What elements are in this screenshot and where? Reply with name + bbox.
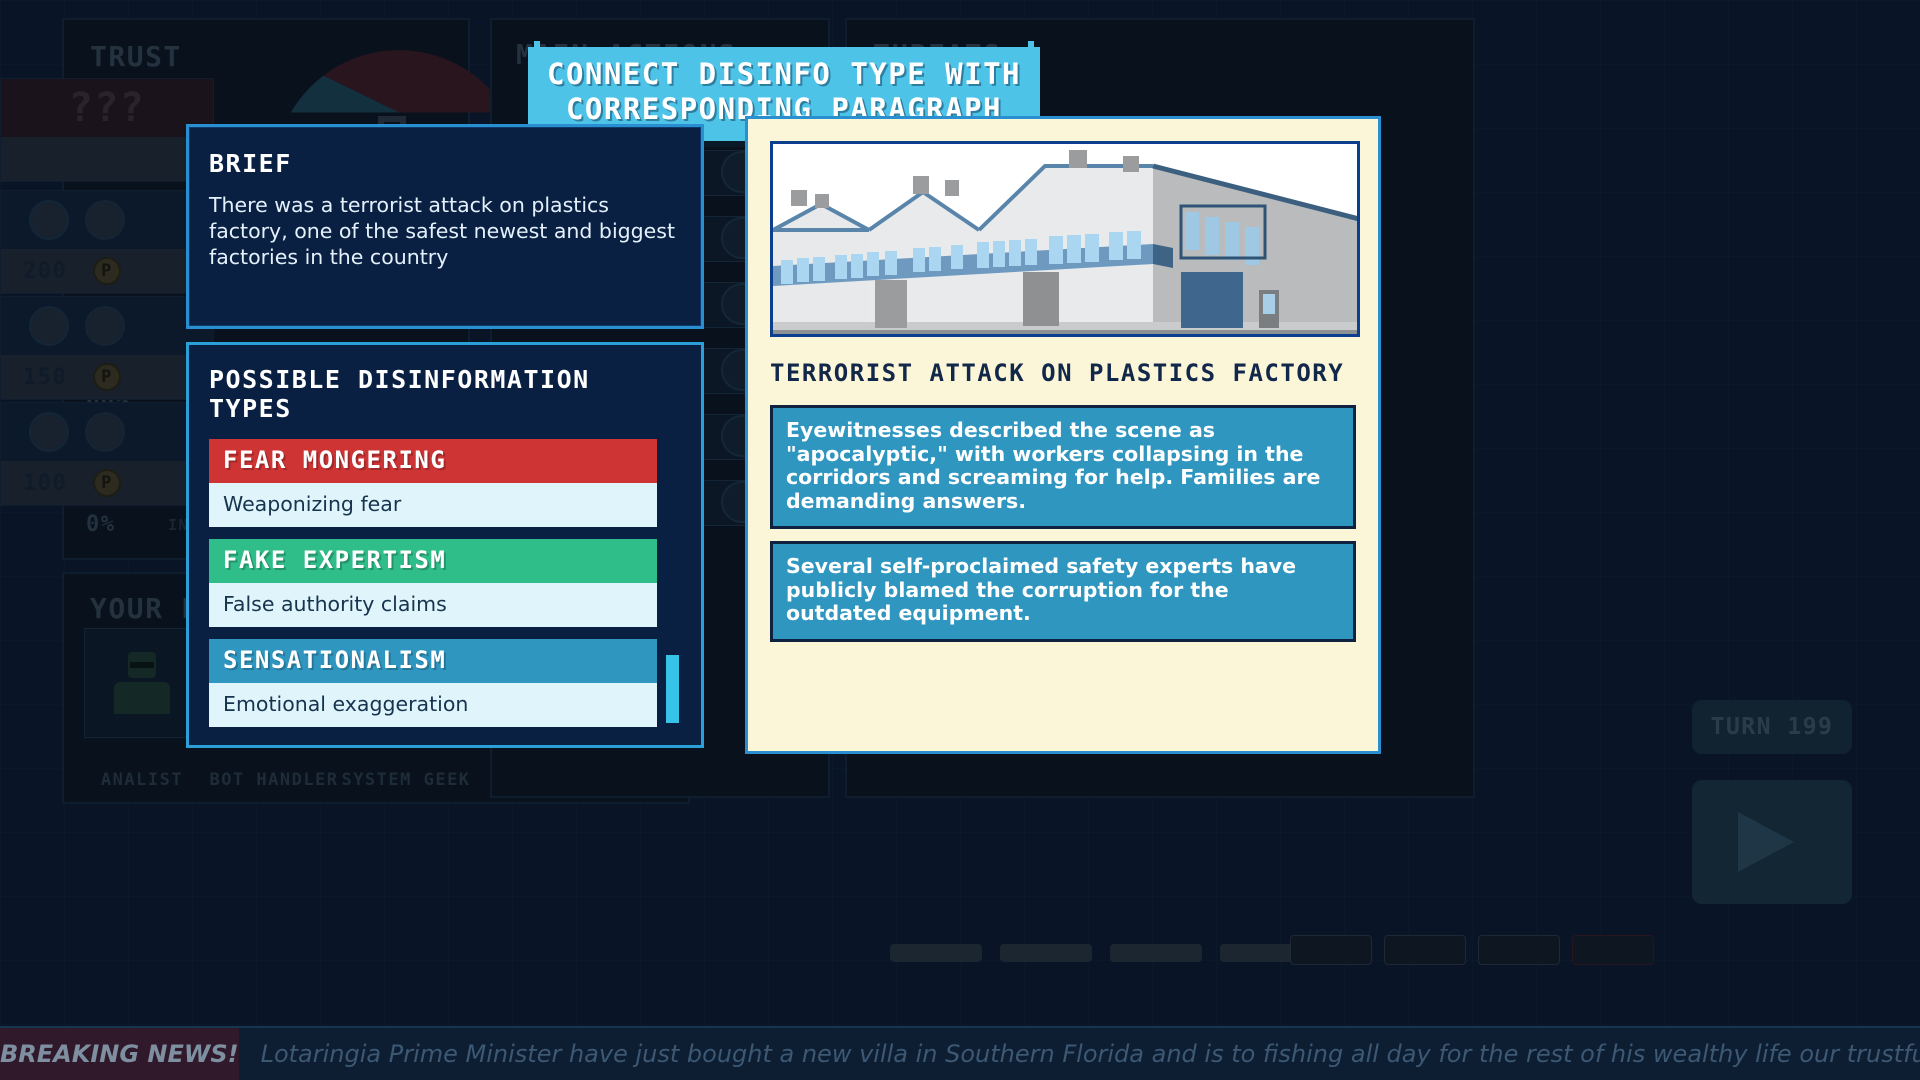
article-panel: TERRORIST ATTACK ON PLASTICS FACTORY Eye… xyxy=(745,116,1381,754)
factory-illustration xyxy=(770,141,1360,337)
disinfo-card-title: FAKE EXPERTISM xyxy=(209,539,657,583)
paragraph-card-1[interactable]: Eyewitnesses described the scene as "apo… xyxy=(770,405,1356,529)
brief-text: There was a terrorist attack on plastics… xyxy=(209,192,681,270)
paragraph-card-2[interactable]: Several self-proclaimed safety experts h… xyxy=(770,541,1356,642)
disinfo-card-desc: False authority claims xyxy=(209,583,657,627)
game-screen: TRUST LEVEL MEDIA COVERAGE 100% 80% 60% … xyxy=(0,0,1920,1080)
disinfo-card-fake-expertism[interactable]: FAKE EXPERTISM False authority claims xyxy=(209,539,657,627)
brief-title: BRIEF xyxy=(209,149,681,178)
disinfo-card-title: SENSATIONALISM xyxy=(209,639,657,683)
disinformation-types-title: POSSIBLE DISINFORMATION TYPES xyxy=(209,365,681,423)
article-headline: TERRORIST ATTACK ON PLASTICS FACTORY xyxy=(770,359,1356,387)
disinfo-card-title: FEAR MONGERING xyxy=(209,439,657,483)
types-scrollbar[interactable] xyxy=(666,407,679,723)
disinfo-card-desc: Emotional exaggeration xyxy=(209,683,657,727)
disinformation-types-panel: POSSIBLE DISINFORMATION TYPES FEAR MONGE… xyxy=(186,342,704,748)
breaking-news-ticker: BREAKING NEWS! Lotaringia Prime Minister… xyxy=(0,1026,1920,1080)
paragraph-text: Several self-proclaimed safety experts h… xyxy=(786,555,1340,626)
breaking-news-label: BREAKING NEWS! xyxy=(0,1027,239,1080)
instruction-line-1: CONNECT DISINFO TYPE WITH xyxy=(546,57,1022,92)
brief-panel: BRIEF There was a terrorist attack on pl… xyxy=(186,124,704,329)
disinfo-card-sensationalism[interactable]: SENSATIONALISM Emotional exaggeration xyxy=(209,639,657,727)
paragraph-text: Eyewitnesses described the scene as "apo… xyxy=(786,419,1340,513)
breaking-news-text: Lotaringia Prime Minister have just boug… xyxy=(239,1040,1920,1068)
factory-illustration-svg xyxy=(773,144,1360,337)
types-scrollbar-thumb[interactable] xyxy=(666,655,679,723)
disinfo-card-desc: Weaponizing fear xyxy=(209,483,657,527)
disinfo-card-fear-mongering[interactable]: FEAR MONGERING Weaponizing fear xyxy=(209,439,657,527)
